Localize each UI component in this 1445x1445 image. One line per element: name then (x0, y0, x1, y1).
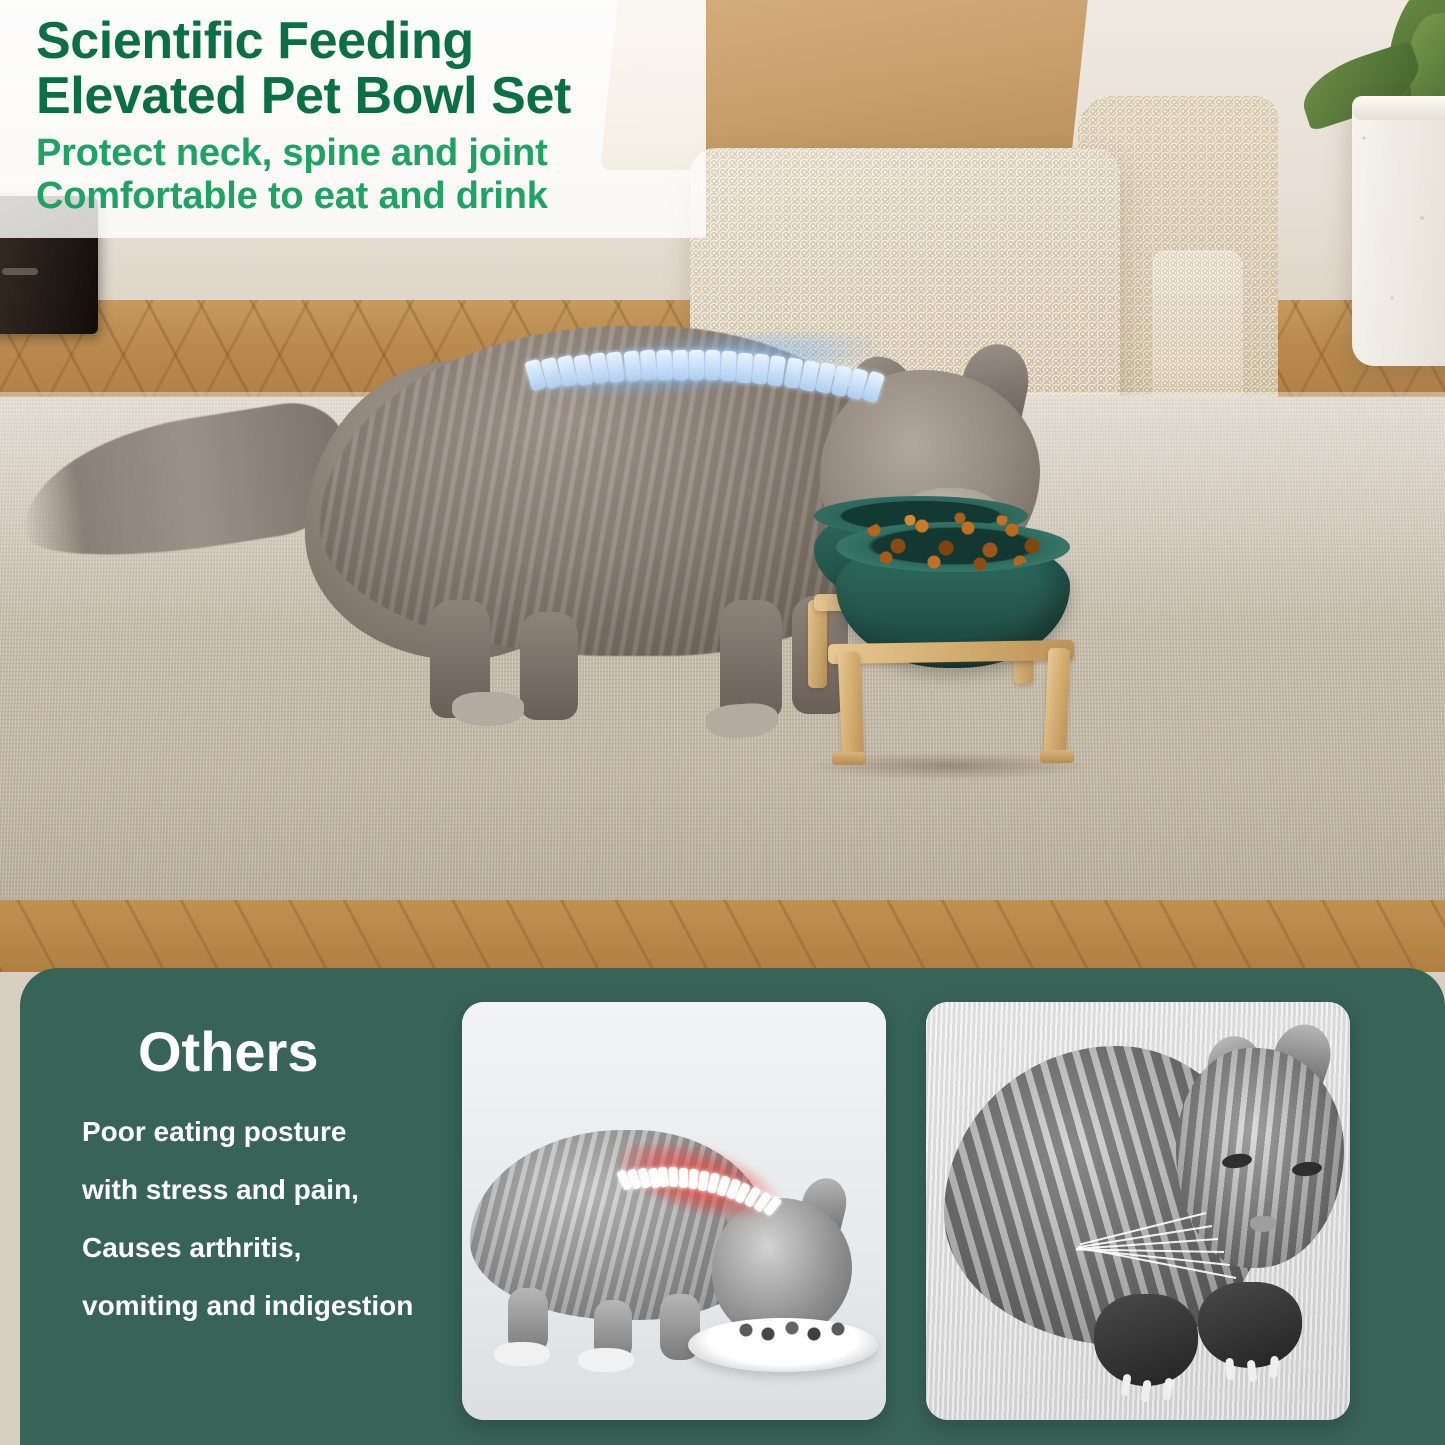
vertebra (623, 350, 641, 381)
page-subtitle: Protect neck, spine and joint Comfortabl… (36, 132, 696, 217)
bamboo-leg (838, 652, 865, 761)
bamboo-foot (1040, 750, 1074, 763)
cat-paw (452, 692, 524, 726)
headline-text-block: Scientific Feeding Elevated Pet Bowl Set… (36, 14, 696, 217)
vertebra (639, 350, 656, 381)
vertebra (669, 1167, 679, 1188)
vertebra (656, 349, 673, 380)
bamboo-leg (1044, 648, 1071, 759)
vertebra (720, 351, 737, 382)
cat-nose (1250, 1216, 1276, 1232)
cat-claw (1225, 1358, 1234, 1380)
bamboo-foot (832, 752, 866, 765)
cat-leg (720, 600, 782, 720)
elevated-pet-bowl-set (800, 490, 1100, 760)
vertebra (705, 350, 721, 380)
others-line: Causes arthritis, (82, 1234, 460, 1262)
others-line: vomiting and indigestion (82, 1292, 460, 1320)
planter-rim (1352, 96, 1445, 120)
vertebra (679, 1168, 688, 1188)
cat-leg (520, 612, 578, 720)
others-heading: Others (138, 1024, 460, 1080)
others-line: Poor eating posture (82, 1118, 460, 1146)
cat-paw (1094, 1294, 1198, 1386)
cat-paw (1198, 1282, 1302, 1368)
hero-scene-photo: /*verts injected below*/ Scientific Feed… (0, 0, 1445, 972)
cat-paw (705, 702, 779, 741)
bamboo-leg (808, 600, 827, 688)
others-line: with stress and pain, (82, 1176, 460, 1204)
cat-paw (494, 1342, 550, 1366)
product-marketing-image: /*verts injected below*/ Scientific Feed… (0, 0, 1445, 1445)
bamboo-front-rail (828, 640, 1074, 664)
page-title: Scientific Feeding Elevated Pet Bowl Set (36, 14, 696, 124)
vertebra (689, 350, 704, 380)
wet-food (734, 1318, 864, 1344)
foreground-wood-floor (0, 900, 1445, 972)
others-description: Poor eating posture with stress and pain… (60, 1118, 460, 1320)
ceramic-planter (1352, 98, 1445, 366)
cabinet-handle (2, 268, 38, 275)
vertebra (672, 349, 688, 379)
thumbnail-bad-posture-eating (462, 1002, 886, 1420)
cat-paw (578, 1348, 634, 1372)
painful-spine-highlight-icon (614, 1148, 780, 1210)
others-copy-block: Others Poor eating posture with stress a… (60, 1024, 460, 1350)
healthy-spine-highlight-icon: /*verts injected below*/ (520, 330, 880, 400)
thumbnail-resting-cat (926, 1002, 1350, 1420)
